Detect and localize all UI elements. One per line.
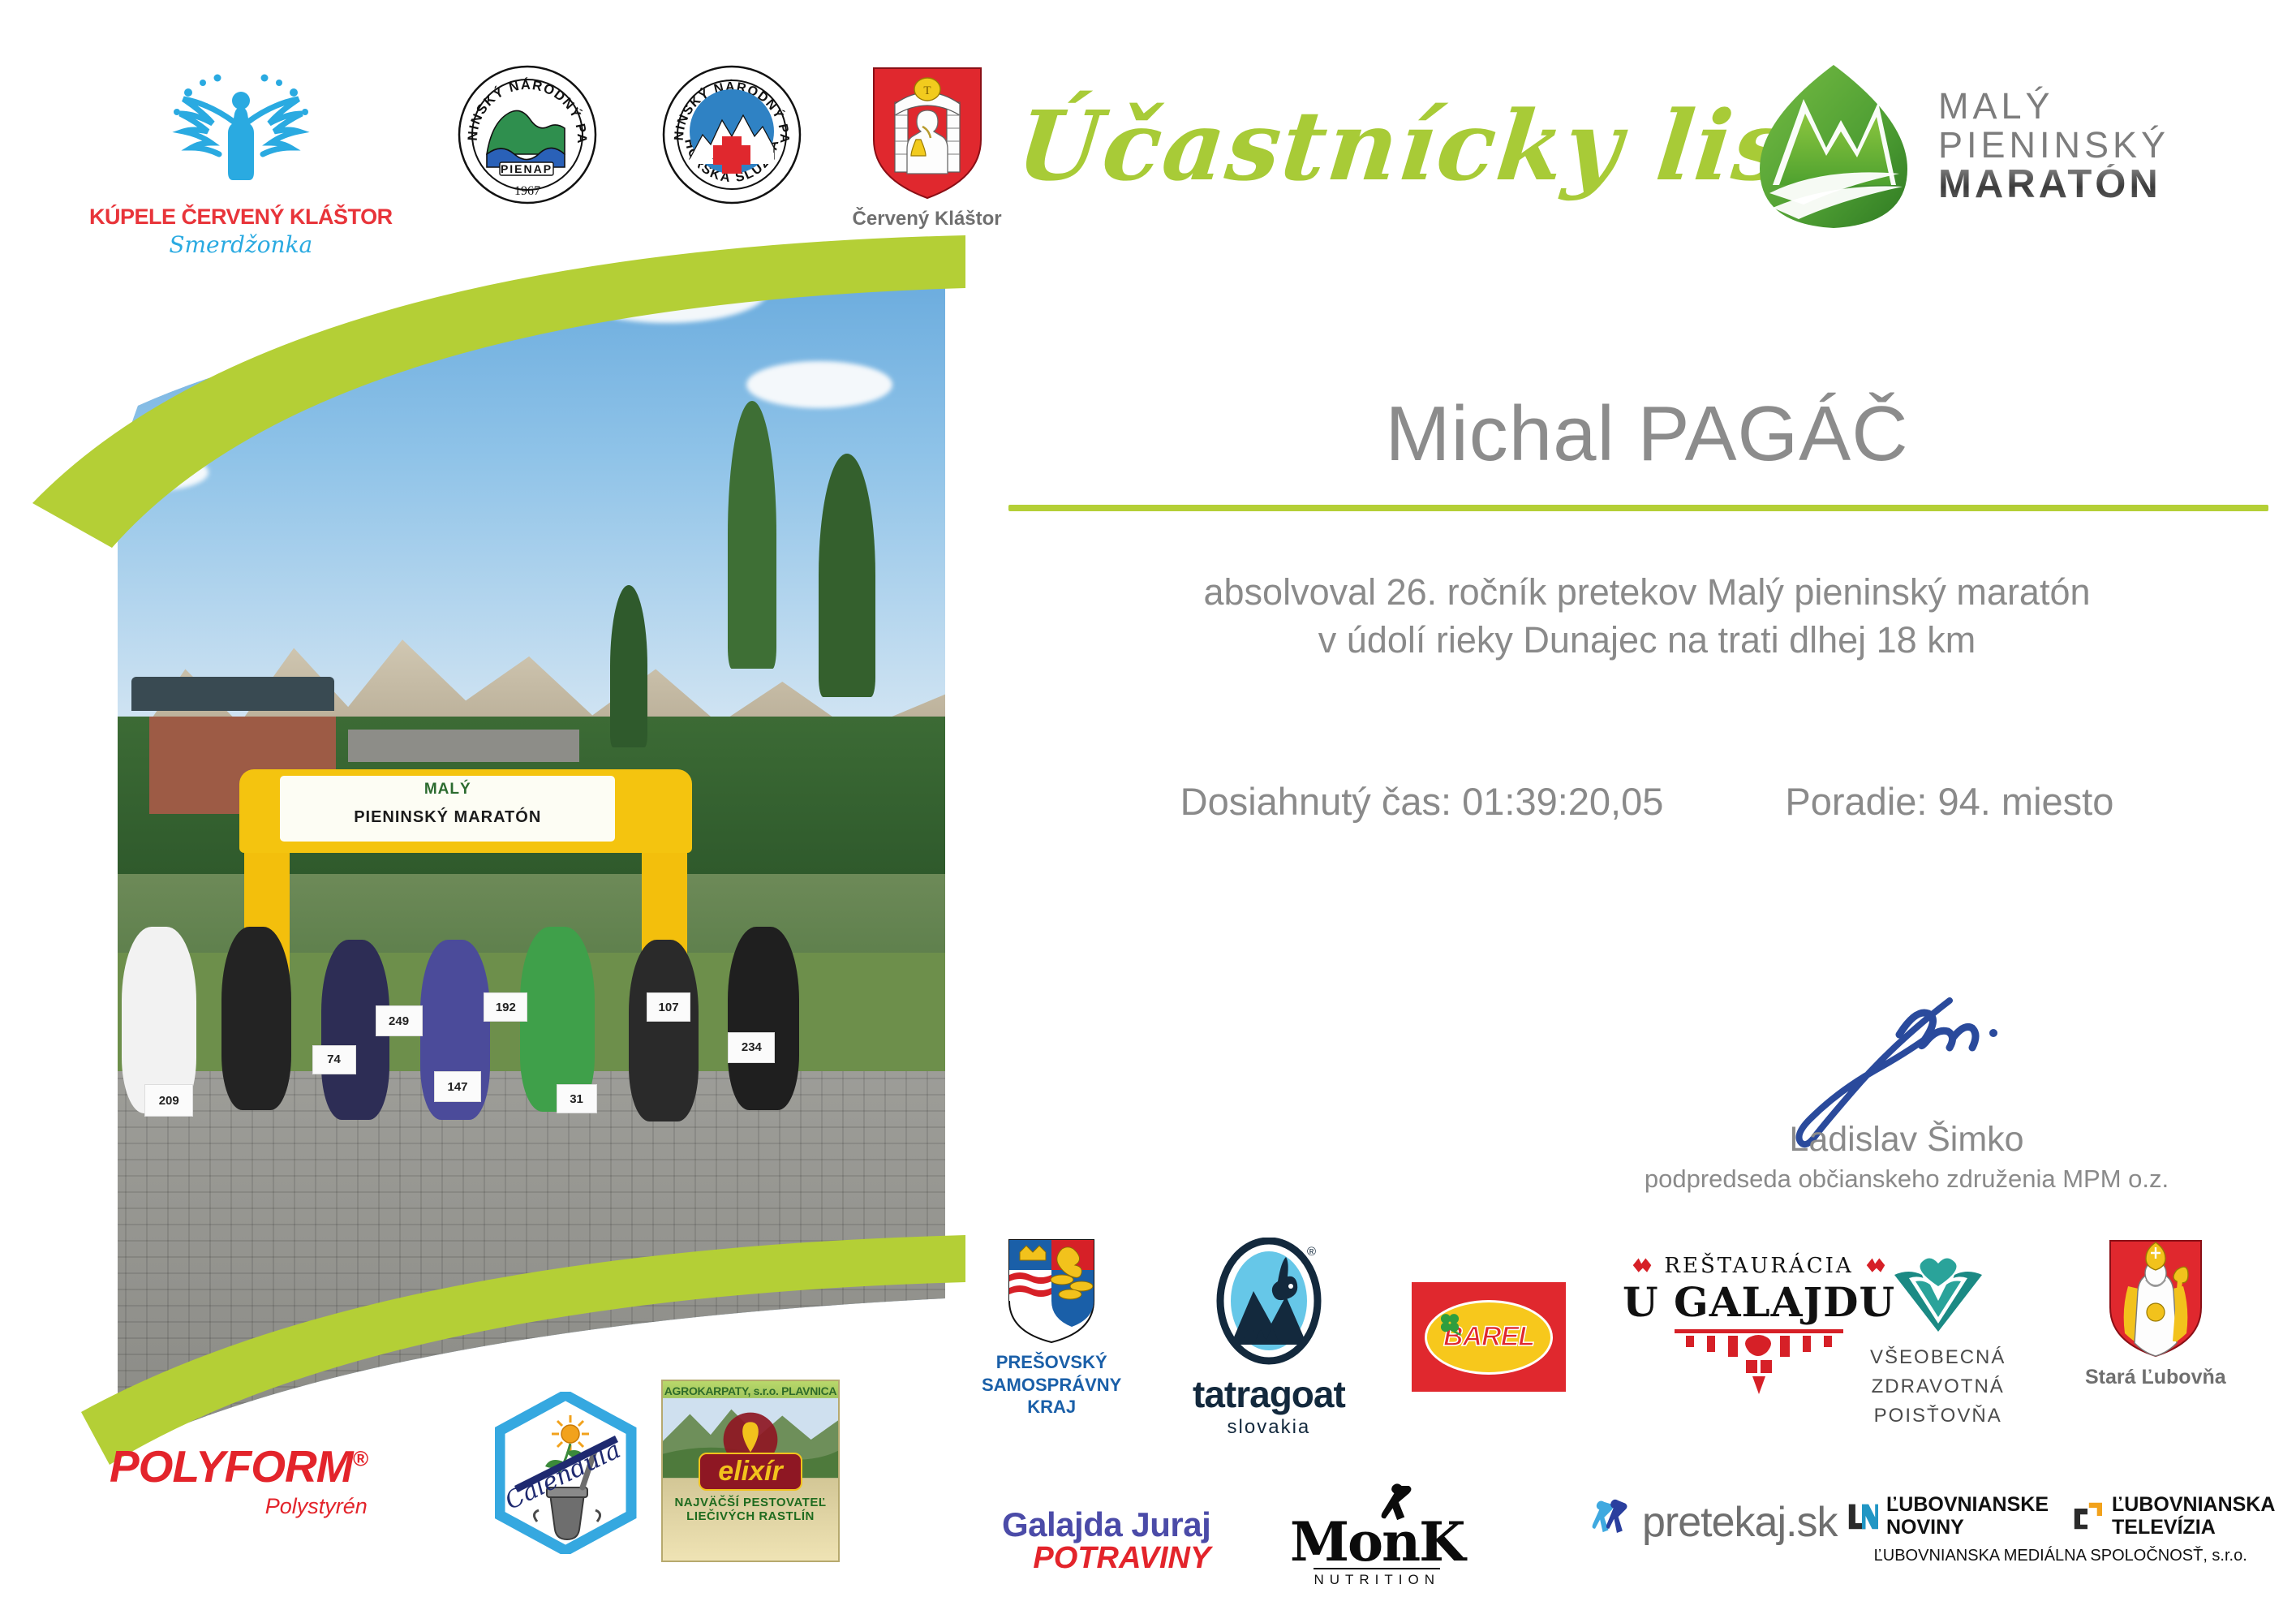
results-row: Dosiahnutý čas: 01:39:20,05 Poradie: 94.… bbox=[1014, 779, 2280, 824]
bib-number: 209 bbox=[144, 1084, 193, 1117]
rank: Poradie: 94. miesto bbox=[1785, 779, 2113, 824]
leaf-mountain-logo bbox=[1756, 63, 1911, 230]
bib-number: 31 bbox=[557, 1084, 597, 1113]
bib-number: 192 bbox=[484, 992, 527, 1022]
two-runners-icon bbox=[1590, 1497, 1632, 1548]
galajda-line-2: POTRAVINY bbox=[1002, 1541, 1210, 1576]
stara-lubovna-name: Stará Ľubovňa bbox=[2085, 1366, 2226, 1389]
sponsor-tatragoat: ® tatragoat slovakia bbox=[1193, 1238, 1345, 1439]
galajda-line-1: Galajda Juraj bbox=[1002, 1505, 1210, 1544]
svg-text:T: T bbox=[923, 84, 931, 97]
tatragoat-name: tatragoat bbox=[1193, 1372, 1345, 1416]
registered-mark-icon: ® bbox=[1307, 1245, 1316, 1259]
description-line-1: absolvoval 26. ročník pretekov Malý pien… bbox=[1014, 568, 2280, 616]
sponsor-calendula: Calendula bbox=[495, 1392, 637, 1554]
participant-name: Michal PAGÁČ bbox=[1014, 390, 2280, 479]
sponsor-monk-nutrition: MonK NUTRITION bbox=[1290, 1481, 1464, 1588]
folk-ornament-icon bbox=[1670, 1326, 1848, 1399]
signature-block: Ladislav Šimko podpredseda občianskeho z… bbox=[1623, 994, 2191, 1194]
sponsor-polyform: POLYFORM® Polystyrén bbox=[110, 1440, 368, 1519]
sponsor-galajda-juraj: Galajda Juraj POTRAVINY bbox=[1002, 1505, 1210, 1576]
signatory-name: Ladislav Šimko bbox=[1623, 1120, 2191, 1160]
certificate-page: KÚPELE ČERVENÝ KLÁŠTOR Smerdžonka PIENIN… bbox=[0, 0, 2296, 1623]
ugalajdu-name: U GALAJDU bbox=[1623, 1278, 1895, 1326]
bib-number: 234 bbox=[728, 1032, 775, 1063]
ln-logo-icon bbox=[1846, 1501, 1878, 1530]
lt-logo-icon bbox=[2071, 1501, 2104, 1530]
monk-subtitle: NUTRITION bbox=[1314, 1568, 1440, 1588]
name-divider bbox=[1008, 505, 2268, 511]
heart-chevron-icon bbox=[1890, 1254, 1987, 1335]
sponsor-presovsky-samospravny-kraj: PREŠOVSKÝ SAMOSPRÁVNY KRAJ bbox=[982, 1238, 1121, 1419]
bishop-crest-icon bbox=[2107, 1238, 2204, 1359]
sponsor-agrokarpaty: AGROKARPATY, s.r.o. PLAVNICA elixír NAJV… bbox=[661, 1380, 840, 1562]
finish-time: Dosiahnutý čas: 01:39:20,05 bbox=[1180, 779, 1664, 824]
polyform-name: POLYFORM® bbox=[110, 1440, 368, 1492]
lubovnianske-noviny: ĽUBOVNIANSKE NOVINY bbox=[1886, 1493, 2049, 1539]
polyform-subtitle: Polystyrén bbox=[110, 1494, 368, 1519]
agrokarpaty-line-1: NAJVÄČŠÍ PESTOVATEĽ bbox=[663, 1496, 838, 1509]
arch-line-2: PIENINSKÝ MARATÓN bbox=[280, 808, 615, 827]
brand-line-2: PIENINSKÝ bbox=[1938, 126, 2169, 165]
event-photo: MALÝ PIENINSKÝ MARATÓN 209 74 249 192 14… bbox=[41, 138, 945, 1453]
vszp-caption: VŠEOBECNÁ ZDRAVOTNÁ POISŤOVŇA bbox=[1870, 1343, 2006, 1431]
bib-number: 74 bbox=[312, 1045, 356, 1074]
chamois-mountain-icon: ® bbox=[1216, 1238, 1322, 1367]
media-company-footer: ĽUBOVNIANSKA MEDIÁLNA SPOLOČNOSŤ, s.r.o. bbox=[1846, 1547, 2275, 1565]
sponsor-stara-lubovna: Stará Ľubovňa bbox=[2085, 1238, 2226, 1389]
brand-line-3: MARATÓN bbox=[1938, 164, 2169, 206]
rank-label: Poradie: bbox=[1785, 780, 1927, 823]
psk-coat-of-arms-icon bbox=[1007, 1238, 1096, 1345]
clover-icon bbox=[1436, 1310, 1464, 1337]
ugalajdu-top: REŠTAURÁCIA bbox=[1664, 1254, 1853, 1278]
brand-logo: MALÝ PIENINSKÝ MARATÓN bbox=[1756, 63, 2169, 230]
arch-line-1: MALÝ bbox=[280, 781, 615, 799]
bib-number: 249 bbox=[376, 1005, 423, 1036]
bib-number: 147 bbox=[434, 1071, 481, 1102]
agrokarpaty-header: AGROKARPATY, s.r.o. PLAVNICA bbox=[663, 1381, 838, 1397]
sponsor-barel: BAREL bbox=[1412, 1282, 1566, 1392]
agrokarpaty-line-2: LIEČIVÝCH RASTLÍN bbox=[663, 1509, 838, 1523]
agrokarpaty-brand: elixír bbox=[699, 1453, 802, 1491]
registered-mark-icon: ® bbox=[353, 1447, 368, 1471]
psk-caption: PREŠOVSKÝ SAMOSPRÁVNY KRAJ bbox=[982, 1351, 1121, 1419]
sponsor-pretekaj-sk: pretekaj.sk bbox=[1590, 1497, 1837, 1548]
pretekaj-name: pretekaj.sk bbox=[1642, 1498, 1837, 1547]
lubovnianska-televizia: ĽUBOVNIANSKA TELEVÍZIA bbox=[2112, 1493, 2275, 1539]
description-line-2: v údolí rieky Dunajec na trati dlhej 18 … bbox=[1014, 616, 2280, 664]
folk-ornament-icon bbox=[1632, 1255, 1653, 1276]
sponsor-u-galajdu: REŠTAURÁCIA U GALAJDU bbox=[1623, 1254, 1895, 1399]
signatory-role: podpredseda občianskeho združenia MPM o.… bbox=[1623, 1165, 2191, 1194]
brand-line-1: MALÝ bbox=[1938, 87, 2169, 126]
sponsor-lubovnianska-media: ĽUBOVNIANSKE NOVINY ĽUBOVNIANSKA TELEVÍZ… bbox=[1846, 1493, 2275, 1565]
bib-number: 107 bbox=[647, 992, 690, 1022]
rank-value: 94. miesto bbox=[1938, 780, 2114, 823]
page-title: Účastnícky list bbox=[1013, 89, 1841, 202]
participation-description: absolvoval 26. ročník pretekov Malý pien… bbox=[1014, 568, 2280, 665]
sponsor-vszp: VŠEOBECNÁ ZDRAVOTNÁ POISŤOVŇA bbox=[1870, 1254, 2006, 1431]
finish-time-value: 01:39:20,05 bbox=[1462, 780, 1663, 823]
tatragoat-subtitle: slovakia bbox=[1228, 1416, 1311, 1439]
finish-time-label: Dosiahnutý čas: bbox=[1180, 780, 1451, 823]
monk-name: MonK bbox=[1290, 1517, 1464, 1568]
